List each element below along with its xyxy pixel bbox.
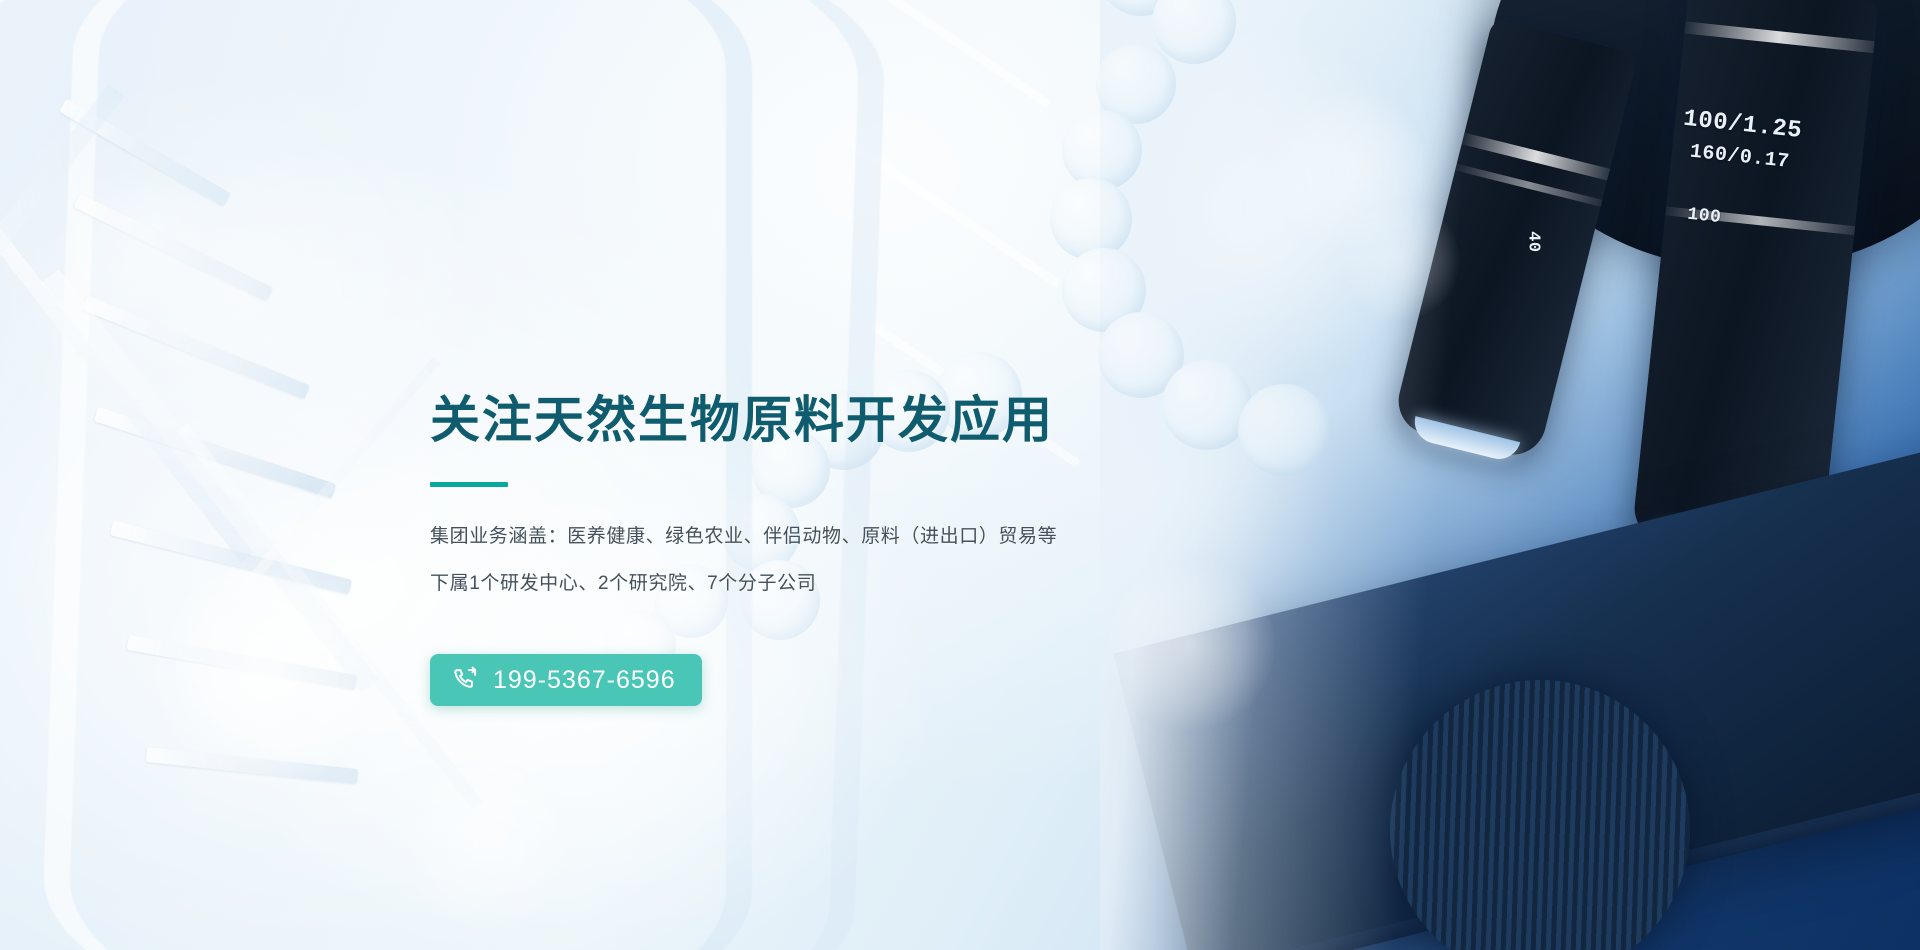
hero-content: 关注天然生物原料开发应用 集团业务涵盖：医养健康、绿色农业、伴侣动物、原料（进出… bbox=[430, 392, 1330, 706]
bokeh-light bbox=[60, 170, 210, 320]
phone-forwarded-icon bbox=[452, 666, 480, 694]
bokeh-light bbox=[1340, 200, 1460, 320]
bokeh-light bbox=[400, 760, 570, 930]
hero-banner: 40 100/1.25 160/0.17 100 bbox=[0, 0, 1920, 950]
page-title: 关注天然生物原料开发应用 bbox=[430, 392, 1330, 448]
phone-call-button[interactable]: 199-5367-6596 bbox=[430, 654, 702, 706]
hero-description: 集团业务涵盖：医养健康、绿色农业、伴侣动物、原料（进出口）贸易等 下属1个研发中… bbox=[430, 521, 1330, 600]
description-line-2: 下属1个研发中心、2个研究院、7个分子公司 bbox=[430, 568, 1330, 601]
bokeh-light bbox=[150, 560, 380, 790]
description-line-1: 集团业务涵盖：医养健康、绿色农业、伴侣动物、原料（进出口）贸易等 bbox=[430, 521, 1330, 554]
phone-number-label: 199-5367-6596 bbox=[493, 666, 676, 695]
title-divider bbox=[430, 482, 508, 487]
